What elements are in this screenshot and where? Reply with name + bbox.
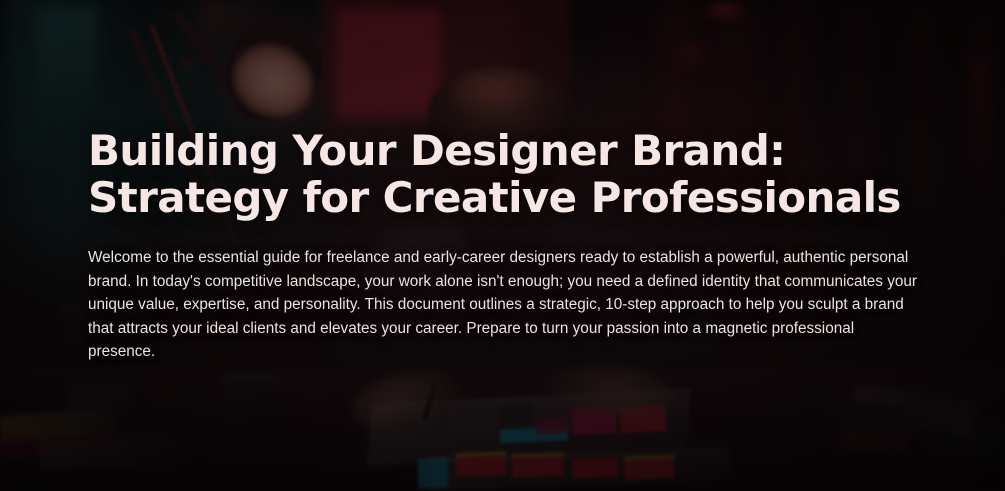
page-title-line-2: Strategy for Creative Professionals	[88, 173, 901, 222]
hero-section: Building Your Designer Brand:Strategy fo…	[0, 0, 1005, 491]
page-title: Building Your Designer Brand:Strategy fo…	[88, 127, 918, 221]
hero-content: Building Your Designer Brand:Strategy fo…	[88, 0, 924, 491]
page-subtitle: Welcome to the essential guide for freel…	[88, 246, 920, 363]
page-title-line-1: Building Your Designer Brand:	[88, 126, 785, 175]
